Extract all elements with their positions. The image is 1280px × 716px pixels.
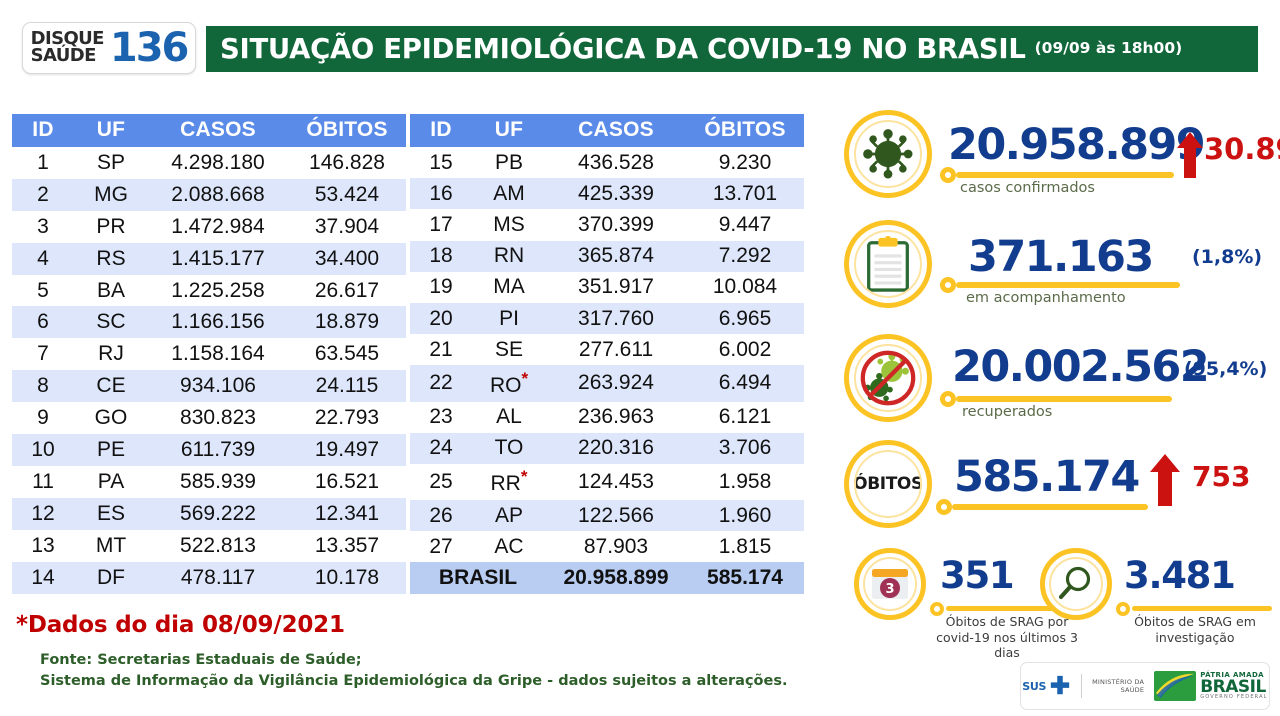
- cell-obitos: 7.292: [686, 241, 804, 272]
- cell-obitos: 10.178: [288, 562, 406, 594]
- table-row: 20PI317.7606.965: [410, 303, 804, 334]
- table-row: 6SC1.166.15618.879: [12, 306, 406, 338]
- stat-caption-recuperados: recuperados: [962, 404, 1052, 420]
- cell-obitos: 37.904: [288, 211, 406, 243]
- col-obitos: ÓBITOS: [288, 114, 406, 147]
- logo-divider: [1081, 674, 1082, 698]
- table-row: 4RS1.415.17734.400: [12, 243, 406, 275]
- cell-uf: PB: [472, 147, 546, 178]
- stat-rule: [956, 282, 1180, 288]
- cell-obitos: 13.701: [686, 178, 804, 209]
- cell-id: 5: [12, 275, 74, 307]
- table-row: 21SE277.6116.002: [410, 334, 804, 365]
- cell-id: 2: [12, 179, 74, 211]
- magnifier-icon-ring: [1040, 548, 1112, 620]
- stat-delta-casos: 30.891: [1204, 132, 1280, 166]
- table-row: 15PB436.5289.230: [410, 147, 804, 178]
- cell-uf: AL: [472, 402, 546, 433]
- table-row: 13MT522.81313.357: [12, 530, 406, 562]
- page-title: SITUAÇÃO EPIDEMIOLÓGICA DA COVID-19 NO B…: [220, 33, 1026, 65]
- cell-casos: 569.222: [148, 498, 288, 530]
- cell-id: 1: [12, 147, 74, 179]
- cell-uf: DF: [74, 562, 148, 594]
- cell-id: 23: [410, 402, 472, 433]
- cell-casos: 4.298.180: [148, 147, 288, 179]
- ministry-line-1: MINISTÉRIO DA: [1092, 678, 1144, 686]
- cell-obitos: 10.084: [686, 272, 804, 303]
- hotline-number: 136: [110, 30, 188, 66]
- cell-id: 4: [12, 243, 74, 275]
- cell-id: 19: [410, 272, 472, 303]
- cell-total-obitos: 585.174: [686, 562, 804, 593]
- cell-id: 16: [410, 178, 472, 209]
- cell-id: 25: [410, 464, 472, 500]
- stat-rule: [956, 172, 1174, 178]
- cell-casos: 585.939: [148, 466, 288, 498]
- source-note: Fonte: Secretarias Estaduais de Saúde; S…: [40, 650, 788, 692]
- srag-caption-3dias: Óbitos de SRAG por covid-19 nos últimos …: [932, 614, 1082, 661]
- col-uf: UF: [472, 114, 546, 147]
- cell-id: 7: [12, 338, 74, 370]
- stat-value-casos: 20.958.899: [948, 120, 1204, 170]
- brasil-label: BRASIL: [1200, 679, 1268, 695]
- cell-obitos: 3.706: [686, 433, 804, 464]
- cell-id: 27: [410, 531, 472, 562]
- obitos-icon-ring: ÓBITOS: [844, 440, 932, 528]
- no-virus-icon-ring: [844, 334, 932, 422]
- col-id: ID: [12, 114, 74, 147]
- table-row: 3PR1.472.98437.904: [12, 211, 406, 243]
- cell-casos: 611.739: [148, 434, 288, 466]
- cell-casos: 124.453: [546, 464, 686, 500]
- cell-obitos: 6.494: [686, 365, 804, 401]
- cell-casos: 236.963: [546, 402, 686, 433]
- cell-casos: 122.566: [546, 500, 686, 531]
- cell-obitos: 9.447: [686, 209, 804, 240]
- calendar-icon: 3: [859, 553, 921, 615]
- cell-uf: SE: [472, 334, 546, 365]
- cell-obitos: 19.497: [288, 434, 406, 466]
- asterisk-marker: *: [521, 467, 528, 486]
- col-id: ID: [410, 114, 472, 147]
- stat-caption-casos: casos confirmados: [960, 180, 1095, 196]
- sus-logo: SUS: [1022, 675, 1071, 697]
- stat-value-obitos: 585.174: [954, 452, 1139, 502]
- cell-obitos: 24.115: [288, 370, 406, 402]
- sus-cross-icon: [1049, 675, 1071, 697]
- table-row: 10PE611.73919.497: [12, 434, 406, 466]
- cell-id: 8: [12, 370, 74, 402]
- brasil-wordmark: PÁTRIA AMADA BRASIL GOVERNO FEDERAL: [1200, 672, 1268, 700]
- col-casos: CASOS: [546, 114, 686, 147]
- table-row: 27AC87.9031.815: [410, 531, 804, 562]
- srag-caption-investigacao: Óbitos de SRAG em investigação: [1120, 614, 1270, 645]
- cell-uf: AC: [472, 531, 546, 562]
- table-header-row: ID UF CASOS ÓBITOS: [12, 114, 406, 147]
- clipboard-icon: [849, 225, 927, 303]
- table-row: 23AL236.9636.121: [410, 402, 804, 433]
- source-line-1: Fonte: Secretarias Estaduais de Saúde;: [40, 650, 788, 671]
- table-total-row: BRASIL20.958.899585.174: [410, 562, 804, 593]
- stat-value-acompanhamento: 371.163: [968, 232, 1153, 282]
- cell-obitos: 12.341: [288, 498, 406, 530]
- stat-percent-acompanhamento: (1,8%): [1192, 246, 1262, 268]
- cell-obitos: 34.400: [288, 243, 406, 275]
- cell-casos: 263.924: [546, 365, 686, 401]
- calendar-icon-ring: 3: [854, 548, 926, 620]
- stat-delta-obitos: 753: [1192, 460, 1250, 493]
- cell-uf: RO*: [472, 365, 546, 401]
- cell-obitos: 6.002: [686, 334, 804, 365]
- srag-value-investigacao: 3.481: [1124, 554, 1235, 597]
- cell-obitos: 146.828: [288, 147, 406, 179]
- table-row: 16AM425.33913.701: [410, 178, 804, 209]
- table-row: 17MS370.3999.447: [410, 209, 804, 240]
- cell-uf: AP: [472, 500, 546, 531]
- stat-dot: [940, 277, 956, 293]
- obitos-icon-label: ÓBITOS: [853, 474, 923, 494]
- uf-tables: ID UF CASOS ÓBITOS 1SP4.298.180146.8282M…: [12, 114, 804, 594]
- cell-total-label: BRASIL: [410, 562, 546, 593]
- arrow-up-icon: [1150, 454, 1180, 511]
- arrow-up-icon: [1177, 132, 1203, 183]
- table-row: 12ES569.22212.341: [12, 498, 406, 530]
- col-uf: UF: [74, 114, 148, 147]
- cell-casos: 830.823: [148, 402, 288, 434]
- cell-uf: SC: [74, 306, 148, 338]
- cell-id: 17: [410, 209, 472, 240]
- cell-casos: 934.106: [148, 370, 288, 402]
- disque-saude-words: DISQUE SAÚDE: [31, 31, 104, 64]
- table-row: 19MA351.91710.084: [410, 272, 804, 303]
- cell-casos: 87.903: [546, 531, 686, 562]
- government-logo-bar: SUS MINISTÉRIO DA SAÚDE PÁTRIA AMADA BRA…: [1020, 662, 1270, 710]
- cell-uf: AM: [472, 178, 546, 209]
- virus-icon: [849, 115, 927, 193]
- stat-rule: [956, 396, 1172, 402]
- cell-obitos: 16.521: [288, 466, 406, 498]
- cell-casos: 1.158.164: [148, 338, 288, 370]
- cell-uf: MA: [472, 272, 546, 303]
- cell-obitos: 18.879: [288, 306, 406, 338]
- cell-uf: RR*: [472, 464, 546, 500]
- stat-percent-recuperados: (95,4%): [1184, 358, 1267, 380]
- cell-casos: 1.225.258: [148, 275, 288, 307]
- cell-obitos: 1.958: [686, 464, 804, 500]
- cell-obitos: 1.815: [686, 531, 804, 562]
- virus-icon-ring: [844, 110, 932, 198]
- table-row: 22RO*263.9246.494: [410, 365, 804, 401]
- brasil-logo: PÁTRIA AMADA BRASIL GOVERNO FEDERAL: [1154, 671, 1268, 701]
- cell-obitos: 22.793: [288, 402, 406, 434]
- cell-id: 18: [410, 241, 472, 272]
- table-row: 18RN365.8747.292: [410, 241, 804, 272]
- table-row: 5BA1.225.25826.617: [12, 275, 406, 307]
- cell-uf: RS: [74, 243, 148, 275]
- cell-obitos: 6.121: [686, 402, 804, 433]
- cell-casos: 370.399: [546, 209, 686, 240]
- table-row: 26AP122.5661.960: [410, 500, 804, 531]
- cell-uf: ES: [74, 498, 148, 530]
- cell-uf: PI: [472, 303, 546, 334]
- cell-obitos: 53.424: [288, 179, 406, 211]
- cell-casos: 277.611: [546, 334, 686, 365]
- cell-uf: BA: [74, 275, 148, 307]
- cell-total-casos: 20.958.899: [546, 562, 686, 593]
- cell-id: 9: [12, 402, 74, 434]
- uf-table-left: ID UF CASOS ÓBITOS 1SP4.298.180146.8282M…: [12, 114, 406, 594]
- table-row: 1SP4.298.180146.828: [12, 147, 406, 179]
- cell-uf: SP: [74, 147, 148, 179]
- page-header: DISQUE SAÚDE 136 SITUAÇÃO EPIDEMIOLÓGICA…: [0, 0, 1280, 96]
- cell-obitos: 6.965: [686, 303, 804, 334]
- cell-id: 13: [12, 530, 74, 562]
- cell-uf: MG: [74, 179, 148, 211]
- srag-rule: [1132, 606, 1272, 611]
- cell-obitos: 13.357: [288, 530, 406, 562]
- srag-value-3dias: 351: [940, 554, 1013, 597]
- cell-obitos: 63.545: [288, 338, 406, 370]
- cell-casos: 478.117: [148, 562, 288, 594]
- table-row: 14DF478.11710.178: [12, 562, 406, 594]
- col-casos: CASOS: [148, 114, 288, 147]
- table-row: 7RJ1.158.16463.545: [12, 338, 406, 370]
- cell-uf: MT: [74, 530, 148, 562]
- cell-uf: TO: [472, 433, 546, 464]
- cell-id: 6: [12, 306, 74, 338]
- ministry-line-2: SAÚDE: [1092, 686, 1144, 694]
- cell-casos: 351.917: [546, 272, 686, 303]
- cell-id: 3: [12, 211, 74, 243]
- cell-casos: 425.339: [546, 178, 686, 209]
- table-row: 25RR*124.4531.958: [410, 464, 804, 500]
- stat-dot: [936, 499, 952, 515]
- svg-text:3: 3: [885, 582, 894, 597]
- cell-casos: 1.472.984: [148, 211, 288, 243]
- cell-uf: RJ: [74, 338, 148, 370]
- cell-casos: 522.813: [148, 530, 288, 562]
- saude-label: SAÚDE: [31, 48, 104, 65]
- page-title-timestamp: (09/09 às 18h00): [1035, 39, 1183, 57]
- cell-casos: 220.316: [546, 433, 686, 464]
- cell-uf: PE: [74, 434, 148, 466]
- sus-label: SUS: [1022, 680, 1046, 693]
- uf-table-right: ID UF CASOS ÓBITOS 15PB436.5289.23016AM4…: [410, 114, 804, 594]
- cell-uf: GO: [74, 402, 148, 434]
- cell-casos: 365.874: [546, 241, 686, 272]
- brazil-flag-icon: [1154, 671, 1196, 701]
- cell-casos: 1.166.156: [148, 306, 288, 338]
- stat-caption-acompanhamento: em acompanhamento: [966, 290, 1126, 306]
- table-header-row: ID UF CASOS ÓBITOS: [410, 114, 804, 147]
- asterisk-marker: *: [521, 369, 528, 388]
- stat-rule: [952, 504, 1148, 510]
- table-row: 24TO220.3163.706: [410, 433, 804, 464]
- table-row: 9GO830.82322.793: [12, 402, 406, 434]
- asterisk-note: *Dados do dia 08/09/2021: [16, 612, 345, 638]
- cell-obitos: 9.230: [686, 147, 804, 178]
- cell-id: 26: [410, 500, 472, 531]
- magnifier-icon: [1045, 553, 1107, 615]
- title-bar: SITUAÇÃO EPIDEMIOLÓGICA DA COVID-19 NO B…: [206, 26, 1258, 72]
- cell-uf: RN: [472, 241, 546, 272]
- cell-casos: 436.528: [546, 147, 686, 178]
- cell-id: 24: [410, 433, 472, 464]
- stat-dot: [940, 167, 956, 183]
- stat-dot: [940, 391, 956, 407]
- srag-rule: [946, 606, 1060, 611]
- table-row: 11PA585.93916.521: [12, 466, 406, 498]
- governo-federal-label: GOVERNO FEDERAL: [1200, 695, 1268, 700]
- stat-value-recuperados: 20.002.562: [952, 342, 1208, 392]
- cell-id: 20: [410, 303, 472, 334]
- cell-id: 12: [12, 498, 74, 530]
- cell-obitos: 26.617: [288, 275, 406, 307]
- cell-uf: PR: [74, 211, 148, 243]
- table-row: 2MG2.088.66853.424: [12, 179, 406, 211]
- cell-id: 22: [410, 365, 472, 401]
- summary-stats-panel: 20.958.899 casos confirmados 30.891: [840, 104, 1280, 564]
- cell-casos: 2.088.668: [148, 179, 288, 211]
- no-virus-icon: [849, 339, 927, 417]
- disque-saude-logo: DISQUE SAÚDE 136: [22, 22, 196, 74]
- cell-obitos: 1.960: [686, 500, 804, 531]
- cell-id: 21: [410, 334, 472, 365]
- cell-casos: 1.415.177: [148, 243, 288, 275]
- col-obitos: ÓBITOS: [686, 114, 804, 147]
- table-row: 8CE934.10624.115: [12, 370, 406, 402]
- cell-id: 10: [12, 434, 74, 466]
- cell-uf: MS: [472, 209, 546, 240]
- cell-id: 15: [410, 147, 472, 178]
- obitos-text-icon: ÓBITOS: [849, 445, 927, 523]
- cell-casos: 317.760: [546, 303, 686, 334]
- cell-uf: CE: [74, 370, 148, 402]
- cell-id: 14: [12, 562, 74, 594]
- cell-id: 11: [12, 466, 74, 498]
- clipboard-icon-ring: [844, 220, 932, 308]
- source-line-2: Sistema de Informação da Vigilância Epid…: [40, 671, 788, 692]
- cell-uf: PA: [74, 466, 148, 498]
- ministry-label: MINISTÉRIO DA SAÚDE: [1092, 678, 1144, 694]
